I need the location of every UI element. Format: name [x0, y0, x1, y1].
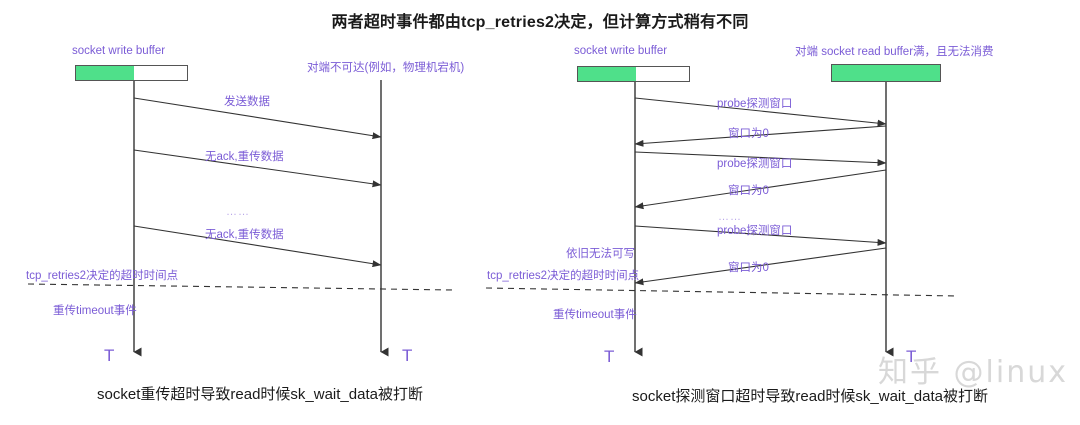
left-receiver-time-marker: T — [402, 347, 412, 364]
right-message-label-2: 窗口为0 — [728, 129, 769, 141]
right-socket-write-buffer — [577, 66, 690, 82]
page-title: 两者超时事件都由tcp_retries2决定，但计算方式稍有不同 — [0, 8, 1080, 32]
right-read-buffer-fill — [832, 65, 940, 81]
right-message-label-1: probe探测窗口 — [717, 99, 792, 111]
left-message-label-1: 发送数据 — [224, 97, 270, 109]
right-message-label-4: 窗口为0 — [728, 186, 769, 198]
right-sender-time-marker: T — [604, 348, 614, 365]
right-write-buffer-fill — [578, 67, 636, 81]
watermark: 知乎 @linux — [878, 347, 1068, 391]
left-message-label-2: 无ack,重传数据 — [205, 152, 284, 164]
right-message-label-5: probe探测窗口 — [717, 226, 792, 238]
left-sender-time-marker: T — [104, 347, 114, 364]
left-message-label-3: 无ack,重传数据 — [205, 230, 284, 242]
left-timeout-line-label: tcp_retries2决定的超时时间点 — [26, 271, 178, 283]
right-receiver-actor-label: 对端 socket read buffer满，且无法消费 — [795, 47, 994, 59]
left-timeout-dashed-line — [28, 284, 453, 290]
right-message-ellipsis: …… — [718, 212, 742, 223]
left-socket-write-buffer — [75, 65, 188, 81]
right-still-unwritable-label: 依旧无法可写 — [566, 249, 635, 261]
left-sender-actor-label: socket write buffer — [72, 46, 165, 58]
right-sender-actor-label: socket write buffer — [574, 46, 667, 58]
right-message-label-3: probe探测窗口 — [717, 159, 792, 171]
left-diagram-caption: socket重传超时导致read时候sk_wait_data被打断 — [0, 383, 520, 404]
left-receiver-actor-label: 对端不可达(例如，物理机宕机) — [307, 63, 464, 75]
right-socket-read-buffer — [831, 64, 941, 82]
left-buffer-fill — [76, 66, 134, 80]
left-message-ellipsis: …… — [226, 207, 250, 218]
right-timeout-line-label: tcp_retries2决定的超时时间点 — [487, 271, 639, 283]
right-timeout-event-label: 重传timeout事件 — [553, 310, 637, 322]
left-timeout-event-label: 重传timeout事件 — [53, 306, 137, 318]
right-message-label-6: 窗口为0 — [728, 263, 769, 275]
